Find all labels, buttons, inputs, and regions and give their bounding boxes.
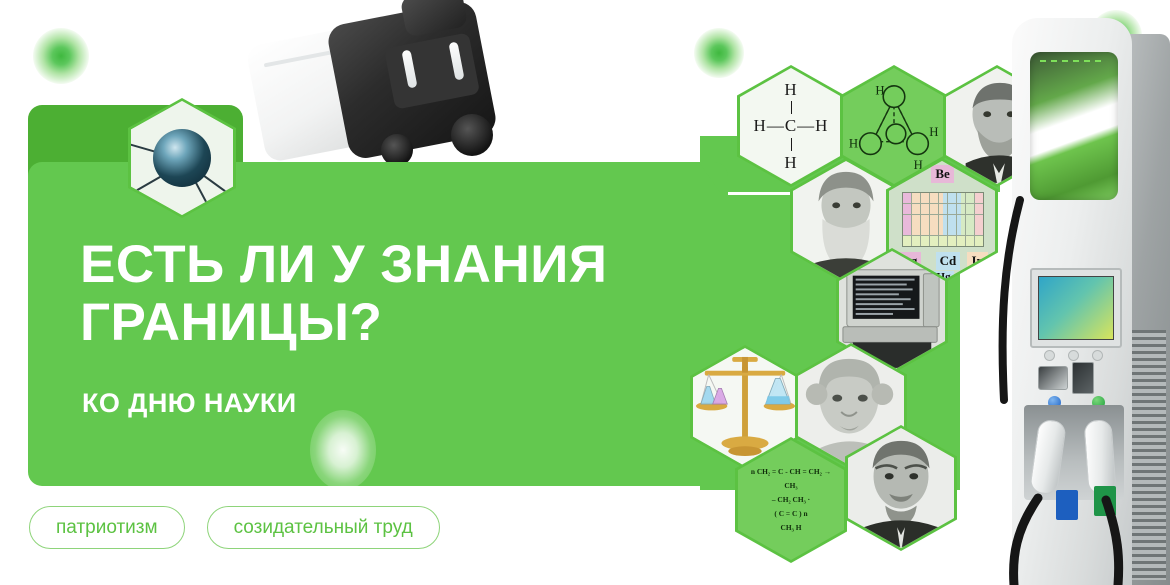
methane-structural-formula: H H—C—H H xyxy=(754,80,829,173)
polymer-line-1: n CH₂ = C - CH = CH₂ → xyxy=(742,465,840,479)
station-screen-frame xyxy=(1030,268,1122,348)
rover-wheel-rear xyxy=(451,114,493,156)
polymer-line-2: CH₃ xyxy=(742,479,840,493)
page-subtitle: КО ДНЮ НАУКИ xyxy=(82,388,297,419)
methane-bond-bottom xyxy=(791,138,792,151)
methane-bond-top xyxy=(791,101,792,114)
methane-h-bottom: H xyxy=(754,153,829,173)
station-vents xyxy=(1132,330,1166,580)
pt-symbol-cd: Cd xyxy=(936,252,961,270)
sputnik-illustration xyxy=(131,101,233,215)
station-button-2[interactable] xyxy=(1068,350,1079,361)
polymer-line-5: CH₃ H xyxy=(742,521,840,535)
polymer-line-4: ( C = C ) n xyxy=(742,507,840,521)
svg-text:H: H xyxy=(929,125,938,139)
tag-list: патриотизм созидательный труд xyxy=(29,506,440,549)
hex-scientist-2-inner xyxy=(848,428,954,548)
station-rfid-reader[interactable] xyxy=(1038,366,1068,390)
headline-line-2: ГРАНИЦЫ? xyxy=(80,294,720,352)
station-tag-green xyxy=(1094,486,1116,516)
station-window-dashes xyxy=(1040,60,1106,62)
svg-text:H: H xyxy=(875,84,884,98)
station-connector-right[interactable] xyxy=(1083,419,1116,495)
polymer-equation: n CH₂ = C - CH = CH₂ → CH₃ – CH₂ CH₃ · (… xyxy=(738,465,844,535)
methane-core: H—C—H xyxy=(754,116,829,136)
svg-text:H: H xyxy=(849,137,858,151)
glow-dot-top-center xyxy=(694,28,744,78)
station-card-slot[interactable] xyxy=(1072,362,1094,394)
station-button-3[interactable] xyxy=(1092,350,1103,361)
glow-dot-top-left xyxy=(33,28,89,84)
station-button-1[interactable] xyxy=(1044,350,1055,361)
sputnik-sphere xyxy=(153,129,211,187)
tag-creative-labor[interactable]: созидательный труд xyxy=(207,506,440,549)
delivery-rover-photo xyxy=(255,0,500,179)
banner-root: ЕСТЬ ЛИ У ЗНАНИЯ ГРАНИЦЫ? КО ДНЮ НАУКИ п… xyxy=(0,0,1170,585)
pt-grid xyxy=(902,192,985,247)
tag-patriotism[interactable]: патриотизм xyxy=(29,506,185,549)
hex-methane-inner: H H—C—H H xyxy=(740,68,842,184)
station-screen[interactable] xyxy=(1038,276,1114,340)
ev-charging-station-photo xyxy=(994,0,1170,585)
methane-h-top: H xyxy=(754,80,829,100)
hex-polymer-inner: n CH₂ = C - CH = CH₂ → CH₃ – CH₂ CH₃ · (… xyxy=(738,440,844,560)
pt-symbol-in: In xyxy=(967,252,987,270)
pt-symbol-be: Be xyxy=(931,165,953,183)
headline-line-1: ЕСТЬ ЛИ У ЗНАНИЯ xyxy=(80,235,607,294)
station-tag-blue xyxy=(1056,490,1078,520)
page-title: ЕСТЬ ЛИ У ЗНАНИЯ ГРАНИЦЫ? xyxy=(80,236,720,352)
station-top-window xyxy=(1030,52,1118,200)
hex-sputnik-inner xyxy=(131,101,233,215)
scientist-2-portrait xyxy=(848,428,954,548)
polymer-line-3: – CH₂ CH₃ · xyxy=(742,493,840,507)
